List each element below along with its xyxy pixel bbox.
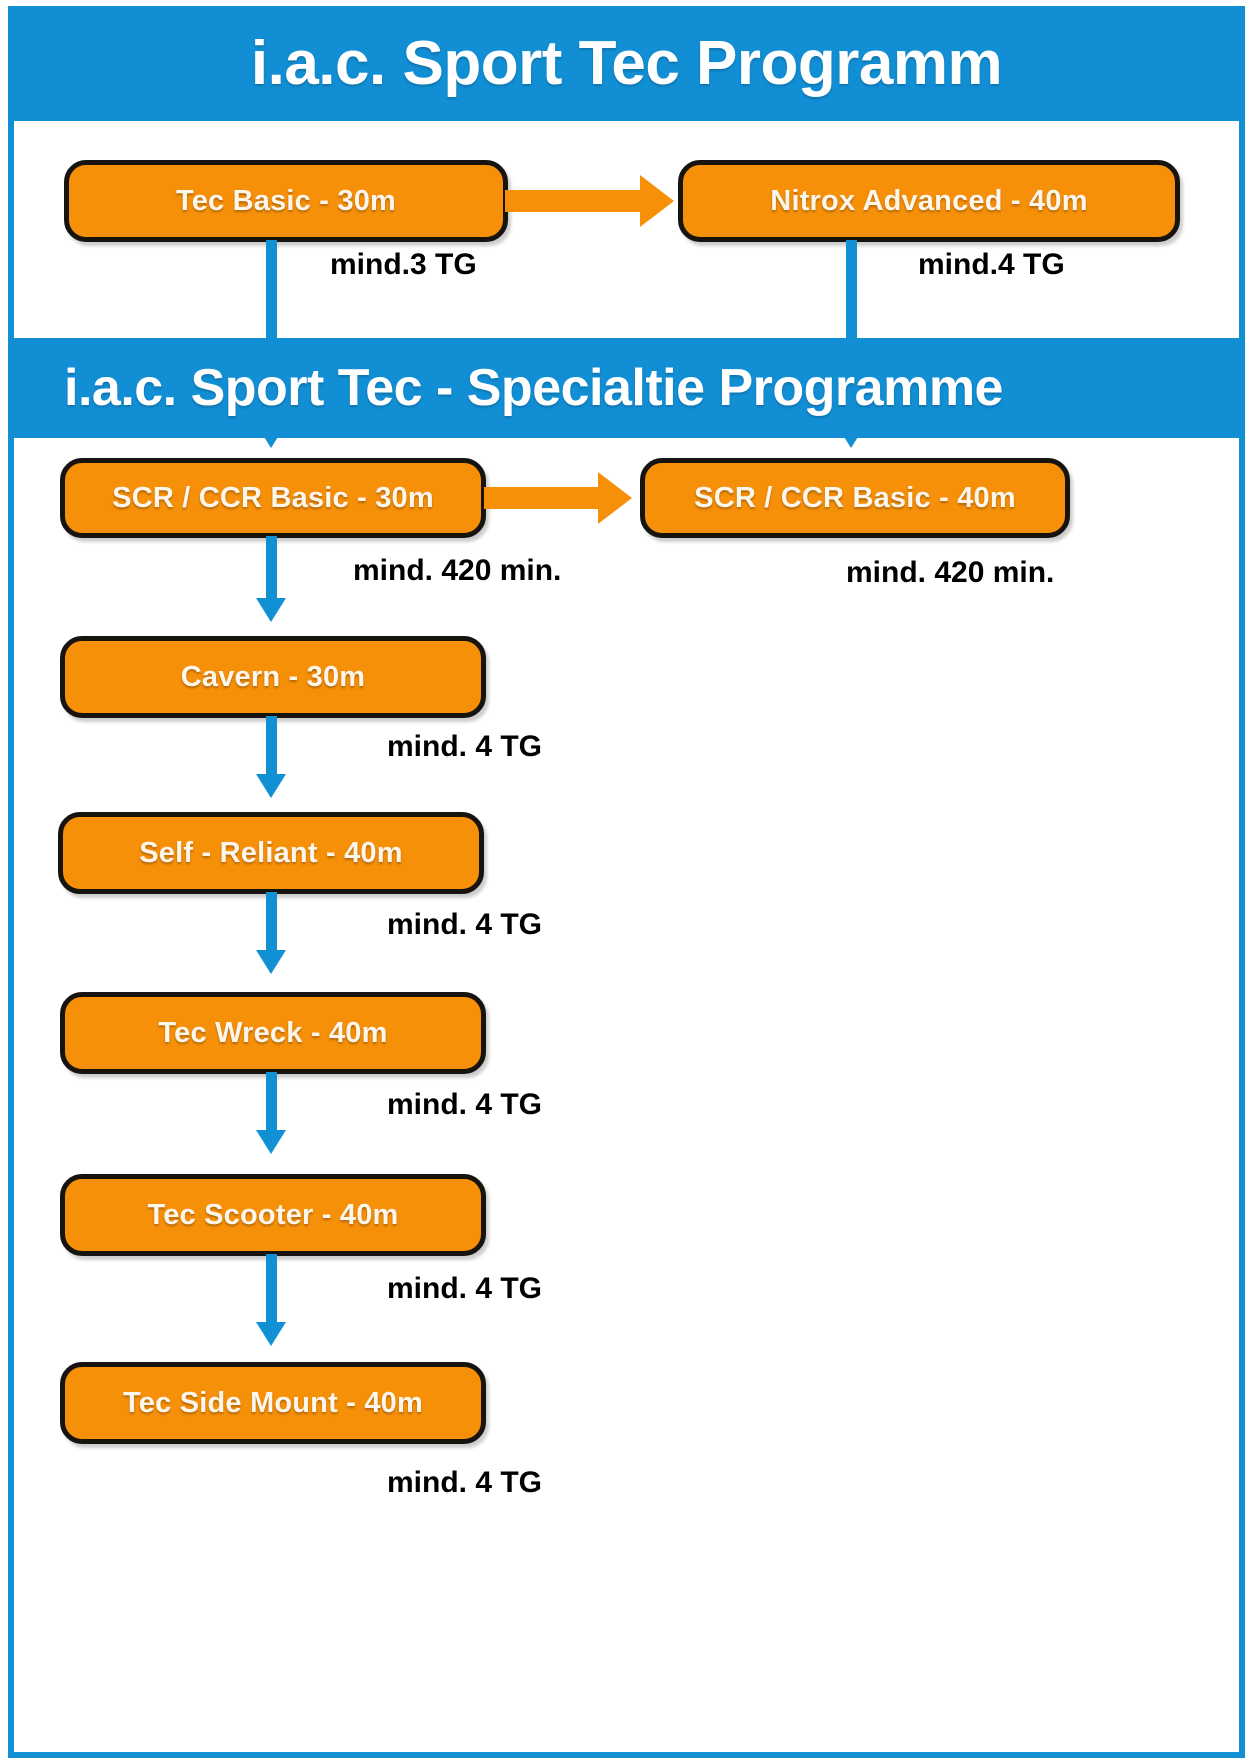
connector-tec-basic-to-nitrox (505, 190, 645, 212)
node-label: Tec Basic - 30m (176, 185, 396, 218)
connector-cavern-to-self-reliant (266, 716, 277, 780)
arrowhead-tec-wreck-to-tec-scooter (256, 1130, 286, 1154)
connector-scr30-to-scr40 (484, 487, 602, 509)
node-label: Cavern - 30m (181, 661, 366, 694)
connector-tec-scooter-to-tec-side-mount (266, 1254, 277, 1328)
caption-tec-scooter: mind. 4 TG (387, 1272, 542, 1306)
node-label: Nitrox Advanced - 40m (770, 185, 1087, 218)
node-tec-basic[interactable]: Tec Basic - 30m (64, 160, 508, 242)
caption-cavern: mind. 4 TG (387, 730, 542, 764)
node-label: Tec Wreck - 40m (158, 1017, 387, 1050)
node-label: SCR / CCR Basic - 30m (112, 482, 434, 515)
node-tec-side-mount[interactable]: Tec Side Mount - 40m (60, 1362, 486, 1444)
node-tec-scooter[interactable]: Tec Scooter - 40m (60, 1174, 486, 1256)
node-label: Self - Reliant - 40m (139, 837, 402, 870)
arrowhead-self-reliant-to-tec-wreck (256, 950, 286, 974)
arrowhead-scr30-to-scr40 (598, 472, 632, 524)
node-cavern[interactable]: Cavern - 30m (60, 636, 486, 718)
caption-tec-wreck: mind. 4 TG (387, 1088, 542, 1122)
node-label: Tec Scooter - 40m (147, 1199, 398, 1232)
section-title: i.a.c. Sport Tec - Specialtie Programme (64, 358, 1003, 418)
node-scr-ccr-basic-30[interactable]: SCR / CCR Basic - 30m (60, 458, 486, 538)
arrowhead-tec-basic-to-nitrox (640, 175, 674, 227)
header-band-specialties: i.a.c. Sport Tec - Specialtie Programme (8, 338, 1245, 438)
node-tec-wreck[interactable]: Tec Wreck - 40m (60, 992, 486, 1074)
page-title: i.a.c. Sport Tec Programm (251, 28, 1002, 99)
arrowhead-cavern-to-self-reliant (256, 774, 286, 798)
connector-self-reliant-to-tec-wreck (266, 892, 277, 956)
caption-scr-30: mind. 420 min. (353, 554, 561, 588)
node-scr-ccr-basic-40[interactable]: SCR / CCR Basic - 40m (640, 458, 1070, 538)
arrowhead-scr30-to-cavern (256, 598, 286, 622)
header-band-main: i.a.c. Sport Tec Programm (8, 6, 1245, 121)
caption-nitrox: mind.4 TG (918, 248, 1065, 282)
arrowhead-tec-scooter-to-tec-side-mount (256, 1322, 286, 1346)
connector-scr30-to-cavern (266, 536, 277, 604)
caption-tec-side-mount: mind. 4 TG (387, 1466, 542, 1500)
node-self-reliant[interactable]: Self - Reliant - 40m (58, 812, 484, 894)
diagram-canvas: i.a.c. Sport Tec Programm Tec Basic - 30… (0, 0, 1251, 1764)
node-nitrox-advanced[interactable]: Nitrox Advanced - 40m (678, 160, 1180, 242)
caption-scr-40: mind. 420 min. (846, 556, 1054, 590)
caption-tec-basic: mind.3 TG (330, 248, 477, 282)
node-label: SCR / CCR Basic - 40m (694, 482, 1016, 515)
node-label: Tec Side Mount - 40m (123, 1387, 423, 1420)
connector-tec-wreck-to-tec-scooter (266, 1072, 277, 1136)
caption-self-reliant: mind. 4 TG (387, 908, 542, 942)
